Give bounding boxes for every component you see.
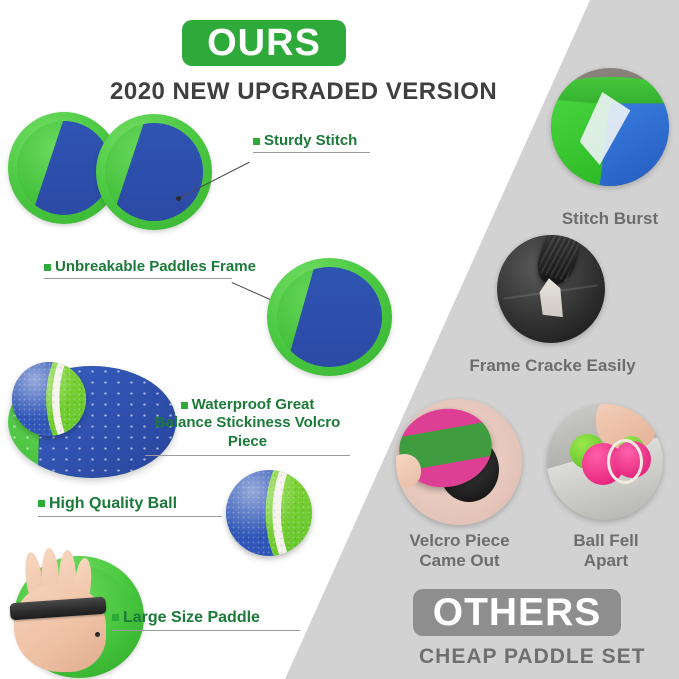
- paddle-single-inner: [277, 267, 382, 366]
- paddle-right-inner: [105, 123, 202, 220]
- bullet-square-icon: [253, 138, 260, 145]
- callout-waterproof-velcro-rule: [145, 455, 350, 456]
- callout-large-size-paddle: Large Size Paddle: [112, 608, 300, 631]
- defect-photo-ball-fell-apart: [547, 404, 663, 520]
- defect-photo-velcro-came-out: [396, 399, 522, 525]
- leader-dot-large-size-paddle: [95, 632, 100, 637]
- ball-highlight: [226, 470, 312, 556]
- callout-large-size-paddle-rule: [112, 630, 300, 631]
- callout-high-quality-ball-text: High Quality Ball: [38, 494, 222, 514]
- ball-highlight: [12, 362, 86, 436]
- callout-waterproof-velcro: Waterproof Great Balance Stickiness Volc…: [145, 396, 350, 456]
- ball-standalone-image: [226, 470, 312, 556]
- bullet-square-icon: [38, 500, 45, 507]
- comparison-infographic: OURS 2020 NEW UPGRADED VERSION Sturdy St…: [0, 0, 679, 679]
- paddle-single-velcro-patch: [277, 267, 382, 366]
- defect-caption-ball-fell-apart: Ball Fell Apart: [545, 531, 667, 571]
- callout-sturdy-stitch-label: Sturdy Stitch: [264, 132, 357, 150]
- defect-caption-stitch-burst: Stitch Burst: [540, 209, 679, 229]
- callout-waterproof-line1: Waterproof Great: [192, 396, 315, 414]
- paddle-pair-image: [8, 112, 218, 224]
- ours-subtitle: 2020 NEW UPGRADED VERSION: [110, 78, 497, 106]
- ball-on-paddle: [12, 362, 86, 436]
- others-badge: OTHERS: [413, 589, 621, 636]
- callout-high-quality-ball: High Quality Ball: [38, 494, 222, 517]
- bullet-square-icon: [112, 614, 119, 621]
- callout-waterproof-velcro-text: Waterproof Great Balance Stickiness Volc…: [145, 396, 350, 451]
- callout-sturdy-stitch-rule: [253, 152, 370, 153]
- ours-badge: OURS: [182, 20, 346, 66]
- callout-sturdy-stitch: Sturdy Stitch: [253, 132, 370, 153]
- callout-unbreakable-frame-label: Unbreakable Paddles Frame: [55, 258, 256, 276]
- others-subtitle: CHEAP PADDLE SET: [419, 645, 645, 669]
- defect-photo-frame-crack: [497, 235, 605, 343]
- paddle-single-image: [267, 258, 392, 376]
- callout-large-size-paddle-text: Large Size Paddle: [112, 608, 300, 628]
- paddle-right: [96, 114, 212, 230]
- bullet-square-icon: [44, 264, 51, 271]
- callout-high-quality-ball-rule: [38, 516, 222, 517]
- leader-dot-sturdy-stitch: [176, 196, 181, 201]
- callout-unbreakable-frame: Unbreakable Paddles Frame: [44, 258, 232, 279]
- callout-unbreakable-frame-text: Unbreakable Paddles Frame: [44, 258, 232, 276]
- defect-photo-stitch-burst: [551, 68, 669, 186]
- callout-high-quality-ball-label: High Quality Ball: [49, 494, 177, 514]
- defect-caption-frame-crack: Frame Cracke Easily: [450, 356, 655, 376]
- callout-large-size-paddle-label: Large Size Paddle: [123, 608, 260, 628]
- callout-sturdy-stitch-text: Sturdy Stitch: [253, 132, 370, 150]
- defect-caption-velcro-came-out: Velcro Piece Came Out: [382, 531, 537, 571]
- paddle-right-velcro-patch: [105, 123, 202, 220]
- callout-unbreakable-frame-rule: [44, 278, 232, 279]
- callout-waterproof-line2: Balance Stickiness Volcro Piece: [145, 414, 350, 451]
- bullet-square-icon: [181, 402, 188, 409]
